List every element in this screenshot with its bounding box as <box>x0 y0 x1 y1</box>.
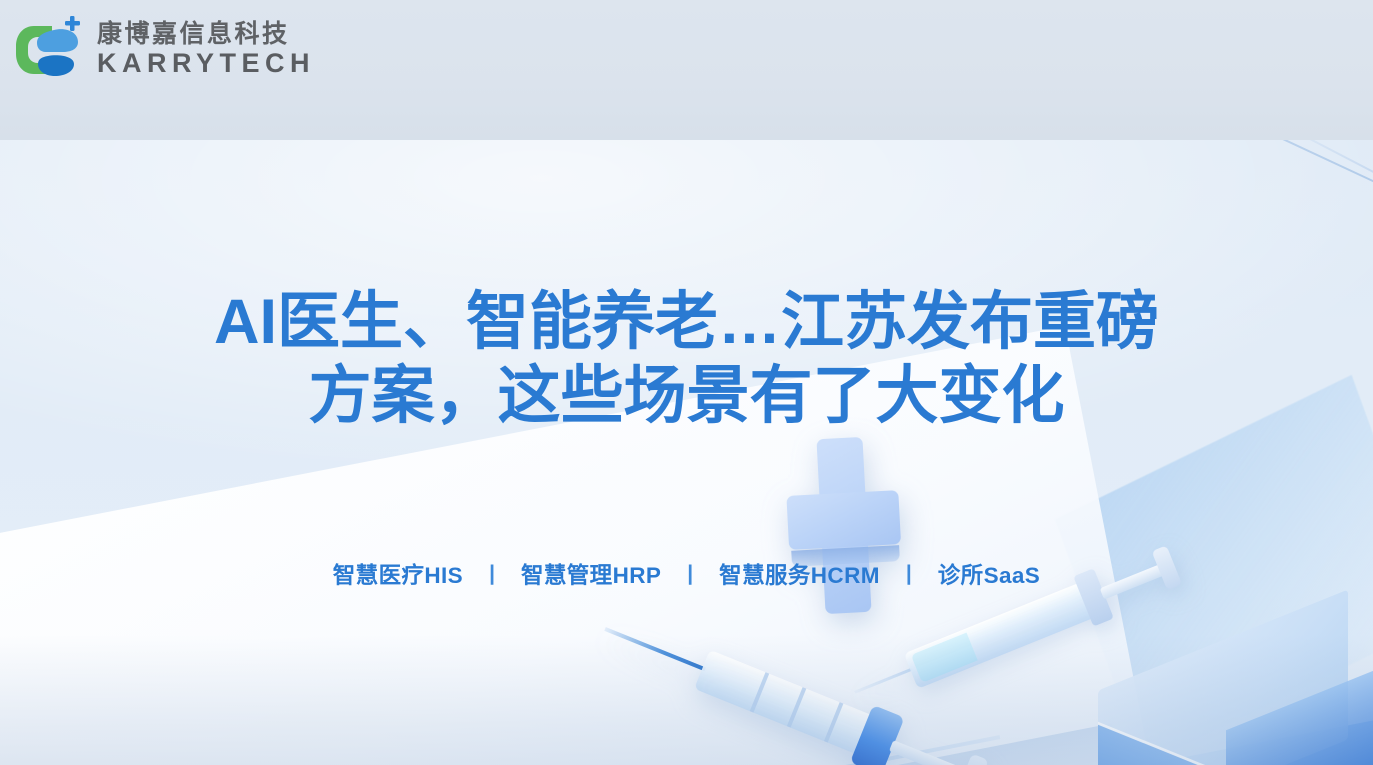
nav-item-clinic-saas[interactable]: 诊所SaaS <box>916 558 1062 590</box>
nav-item-his[interactable]: 智慧医疗HIS <box>311 558 485 590</box>
cross-horizontal-bar <box>786 490 901 550</box>
syringe-lower-plunger-rod <box>889 740 973 765</box>
nav-separator-1: | <box>485 562 499 586</box>
page-root: 康博嘉信息科技 KARRYTECH <box>0 0 1373 765</box>
brand-text: 康博嘉信息科技 KARRYTECH <box>97 21 315 78</box>
hero-product-nav: 智慧医疗HIS | 智慧管理HRP | 智慧服务HCRM | 诊所SaaS <box>0 558 1373 590</box>
karrytech-logo-mark <box>12 16 84 82</box>
diagonal-edge-line-2 <box>804 140 1373 237</box>
brand-logo[interactable]: 康博嘉信息科技 KARRYTECH <box>12 16 315 82</box>
brand-name-cn: 康博嘉信息科技 <box>97 21 315 47</box>
hero-banner: AI医生、智能养老…江苏发布重磅 方案，这些场景有了大变化 智慧医疗HIS | … <box>0 140 1373 765</box>
nav-item-hcrm[interactable]: 智慧服务HCRM <box>697 558 902 590</box>
site-header: 康博嘉信息科技 KARRYTECH <box>0 0 1373 140</box>
brand-name-en: KARRYTECH <box>97 49 315 77</box>
syringe-lower-thumbrest <box>955 754 989 765</box>
diagonal-edge-line-1 <box>971 140 1373 203</box>
white-desk-plane <box>0 326 1172 765</box>
glass-cube-shape <box>1098 640 1373 765</box>
nav-separator-2: | <box>683 562 697 586</box>
nav-separator-3: | <box>902 562 916 586</box>
nav-item-hrp[interactable]: 智慧管理HRP <box>499 558 683 590</box>
